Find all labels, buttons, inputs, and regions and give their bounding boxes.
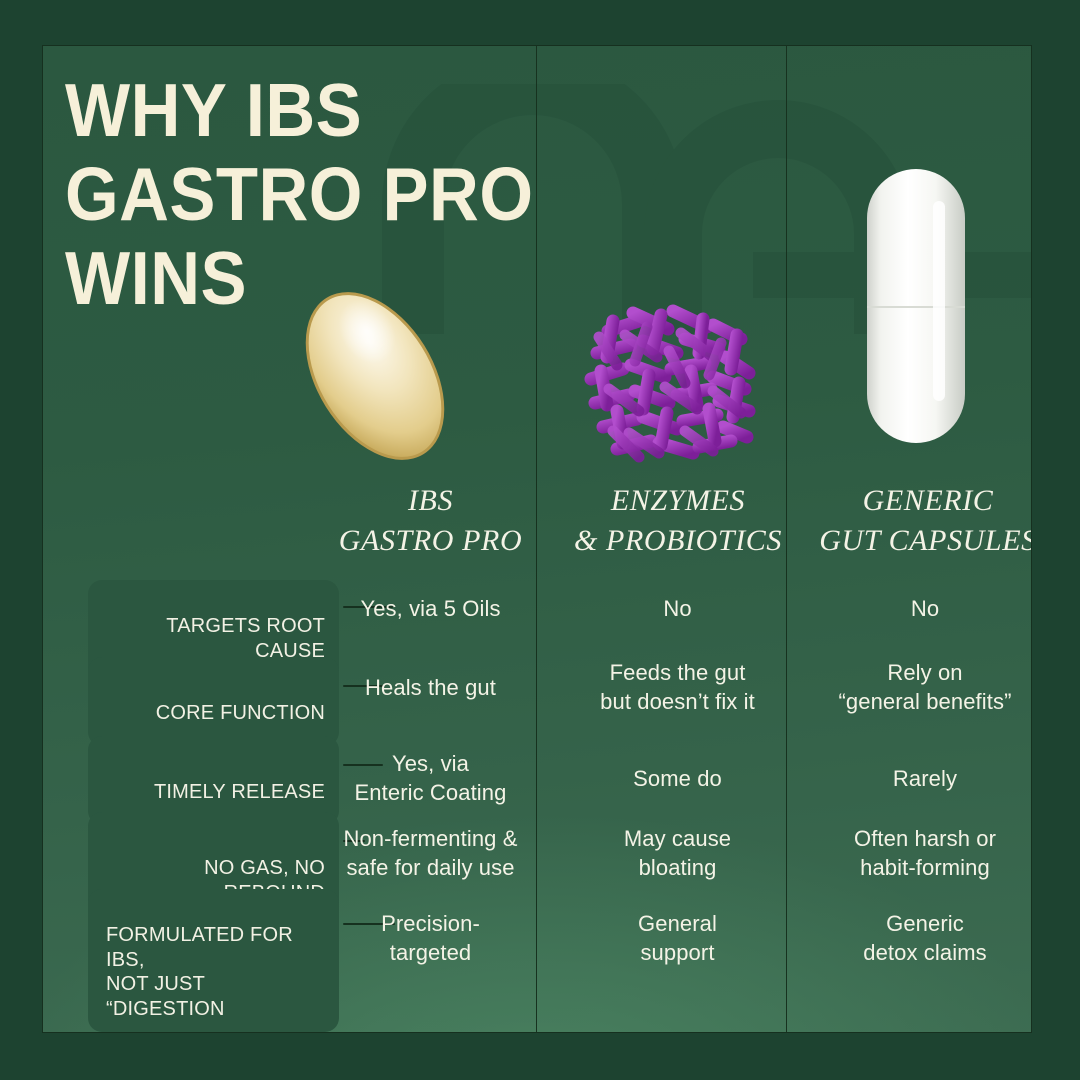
- row-label-text: FORMULATED FOR IBS, NOT JUST “DIGESTION: [106, 924, 293, 1019]
- cell-formulated-ibs: Precision- targeted: [323, 909, 538, 967]
- cell-timely-release-enzymes: Some do: [555, 764, 800, 793]
- row-label-text: TARGETS ROOT CAUSE: [166, 615, 325, 661]
- white-capsule-icon: [851, 161, 981, 451]
- cell-core-function-enzymes: Feeds the gut but doesn’t fix it: [555, 658, 800, 716]
- column-header-generic-gut-capsules: GENERIC GUT CAPSULES: [803, 481, 1032, 561]
- cell-core-function-ibs: Heals the gut: [323, 673, 538, 702]
- cell-no-gas-enzymes: May cause bloating: [555, 824, 800, 882]
- gold-softgel-icon: [280, 276, 470, 476]
- cell-timely-release-ibs: Yes, via Enteric Coating: [323, 749, 538, 807]
- cell-core-function-generic: Rely on “general benefits”: [800, 658, 1032, 716]
- row-label-core-function: CORE FUNCTION: [88, 657, 339, 746]
- cell-targets-root-cause-ibs: Yes, via 5 Oils: [323, 594, 538, 623]
- row-label-text: CORE FUNCTION: [156, 702, 325, 724]
- cell-targets-root-cause-enzymes: No: [555, 594, 800, 623]
- cell-timely-release-generic: Rarely: [800, 764, 1032, 793]
- cell-formulated-enzymes: General support: [555, 909, 800, 967]
- column-header-ibs-gastro-pro: IBS GASTRO PRO: [323, 481, 538, 561]
- purple-bacteria-cluster-icon: [573, 291, 763, 471]
- column-header-enzymes-probiotics: ENZYMES & PROBIOTICS: [558, 481, 798, 561]
- cell-no-gas-ibs: Non-fermenting & safe for daily use: [323, 824, 538, 882]
- row-label-formulated-for-ibs: FORMULATED FOR IBS, NOT JUST “DIGESTION: [88, 889, 339, 1032]
- infographic-root: WHY IBS GASTRO PRO WINS: [0, 0, 1080, 1080]
- row-label-text: TIMELY RELEASE: [154, 781, 325, 803]
- comparison-panel: WHY IBS GASTRO PRO WINS: [42, 45, 1032, 1033]
- cell-formulated-generic: Generic detox claims: [800, 909, 1032, 967]
- cell-no-gas-generic: Often harsh or habit-forming: [800, 824, 1032, 882]
- cell-targets-root-cause-generic: No: [800, 594, 1032, 623]
